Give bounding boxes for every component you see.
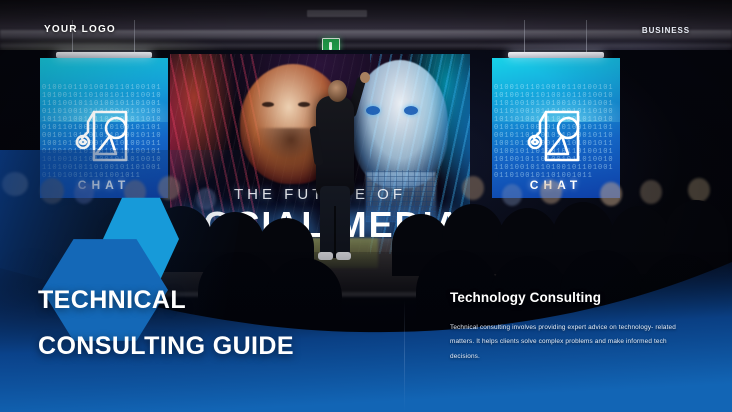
side-led-panel-left: 0100101101001011010010110100101101001011… — [40, 58, 168, 198]
audience-face — [2, 172, 28, 196]
audience-face — [462, 176, 484, 200]
audience-face — [600, 182, 622, 206]
right-text-block: Technology Consulting Technical consulti… — [450, 290, 696, 364]
ceiling-beam-secondary — [0, 44, 732, 49]
section-heading: Technology Consulting — [450, 290, 696, 305]
led-robot-eye-left — [366, 106, 380, 115]
audience-face — [40, 178, 64, 204]
page-title-line-1: TECHNICAL — [38, 288, 338, 313]
audience-face — [74, 182, 94, 204]
panel-wire — [586, 20, 587, 54]
stage-light-bar-left — [56, 52, 152, 58]
vertical-divider — [404, 300, 405, 412]
chat-bubble-document-icon — [74, 102, 132, 168]
audience-face — [158, 176, 180, 200]
title-block: TECHNICAL CONSULTING GUIDE — [38, 288, 338, 359]
page-title-line-2: CONSULTING GUIDE — [38, 334, 338, 359]
side-led-panel-right: 0100101101001011010010110100101101001011… — [492, 58, 620, 198]
speaker-leg-divider — [334, 206, 336, 258]
logo-text[interactable]: YOUR LOGO — [44, 24, 116, 35]
chat-bubble-document-icon — [526, 102, 584, 168]
led-robot-eye-right — [404, 106, 418, 115]
led-human-eye-left — [262, 102, 274, 107]
led-human-eye-right — [298, 102, 310, 107]
section-body-text: Technical consulting involves providing … — [450, 321, 696, 364]
audience-face — [540, 180, 562, 204]
ceiling-vent — [307, 10, 367, 17]
speaker-torso — [316, 96, 354, 196]
audience-face — [640, 180, 662, 204]
audience-face — [688, 178, 710, 202]
audience-face — [196, 188, 216, 210]
speaker-head — [328, 80, 347, 102]
header-right-label: BUSINESS — [642, 26, 690, 35]
panel-wire — [134, 20, 135, 54]
audience-face — [502, 184, 522, 206]
panel-wire — [524, 20, 525, 54]
speaker-hand — [360, 72, 370, 83]
slide-canvas: THE FUTURE OF SOCIAL MEDIA 0100101101001… — [0, 0, 732, 412]
stage-light-bar-right — [508, 52, 604, 58]
